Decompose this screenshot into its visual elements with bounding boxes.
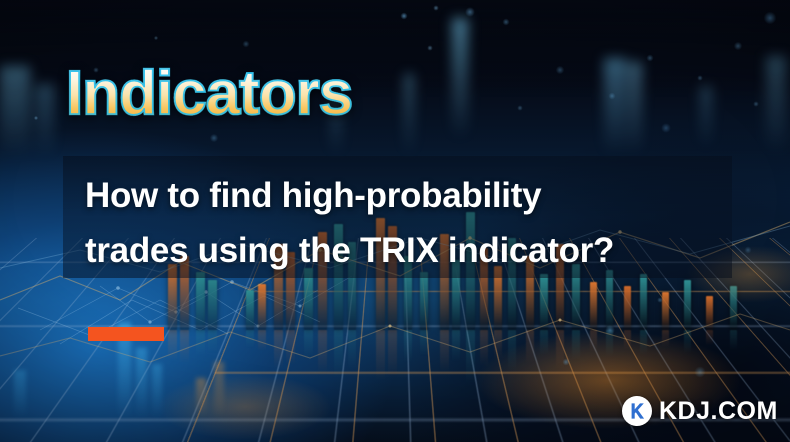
- banner-kicker: Indicators: [66, 63, 352, 125]
- indicators-article-banner: Indicators Indicators How to find high-p…: [0, 0, 790, 442]
- site-logo[interactable]: KDJ.COM: [622, 396, 778, 426]
- logo-text: KDJ.COM: [659, 399, 778, 424]
- banner-headline: How to find high-probability trades usin…: [85, 168, 725, 278]
- accent-bar: [88, 327, 164, 341]
- headline-line-1: How to find high-probability: [85, 168, 725, 223]
- kdj-circle-logo-icon: [622, 396, 652, 426]
- headline-line-2: trades using the TRIX indicator?: [85, 223, 725, 278]
